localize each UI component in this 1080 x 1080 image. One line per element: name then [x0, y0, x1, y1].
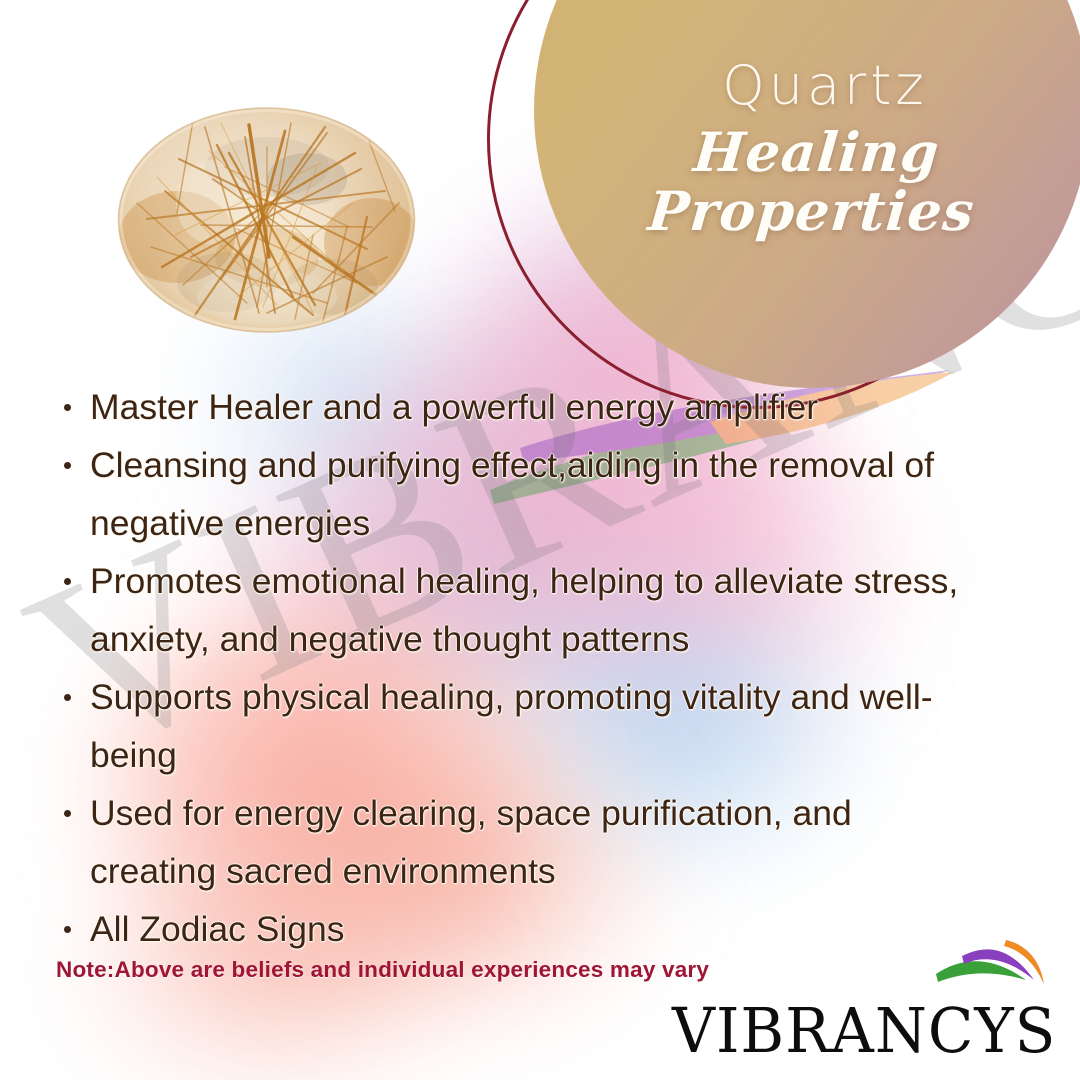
- list-item: Supports physical healing, promoting vit…: [56, 668, 986, 784]
- bullet-dot-icon: [64, 810, 71, 817]
- list-item-label: Used for energy clearing, space purifica…: [90, 793, 852, 891]
- list-item-label: Cleansing and purifying effect,aiding in…: [90, 445, 934, 543]
- bullet-dot-icon: [64, 694, 71, 701]
- list-item-label: All Zodiac Signs: [90, 909, 345, 949]
- bullet-dot-icon: [64, 462, 71, 469]
- list-item: Cleansing and purifying effect,aiding in…: [56, 436, 986, 552]
- bullet-dot-icon: [64, 578, 71, 585]
- disclaimer-note: Note:Above are beliefs and individual ex…: [56, 957, 709, 983]
- healing-properties-list: Master Healer and a powerful energy ampl…: [56, 378, 986, 958]
- brand-logo: VIBRANCYS: [756, 936, 1056, 1062]
- poster-canvas: VIBRANCYS Quartz Healing Properties: [0, 0, 1080, 1080]
- bullet-dot-icon: [64, 404, 71, 411]
- list-item-label: Master Healer and a powerful energy ampl…: [90, 387, 818, 427]
- gemstone-image: [117, 107, 416, 333]
- rutilated-quartz-icon: [117, 107, 416, 333]
- vibrancys-feather-icon: [934, 936, 1052, 992]
- brand-wordmark: VIBRANCYS: [672, 1000, 1056, 1062]
- bullet-dot-icon: [64, 926, 71, 933]
- list-item: Used for energy clearing, space purifica…: [56, 784, 986, 900]
- list-item-label: Promotes emotional healing, helping to a…: [90, 561, 958, 659]
- list-item-label: Supports physical healing, promoting vit…: [90, 677, 933, 775]
- list-item: Master Healer and a powerful energy ampl…: [56, 378, 986, 436]
- list-item: Promotes emotional healing, helping to a…: [56, 552, 986, 668]
